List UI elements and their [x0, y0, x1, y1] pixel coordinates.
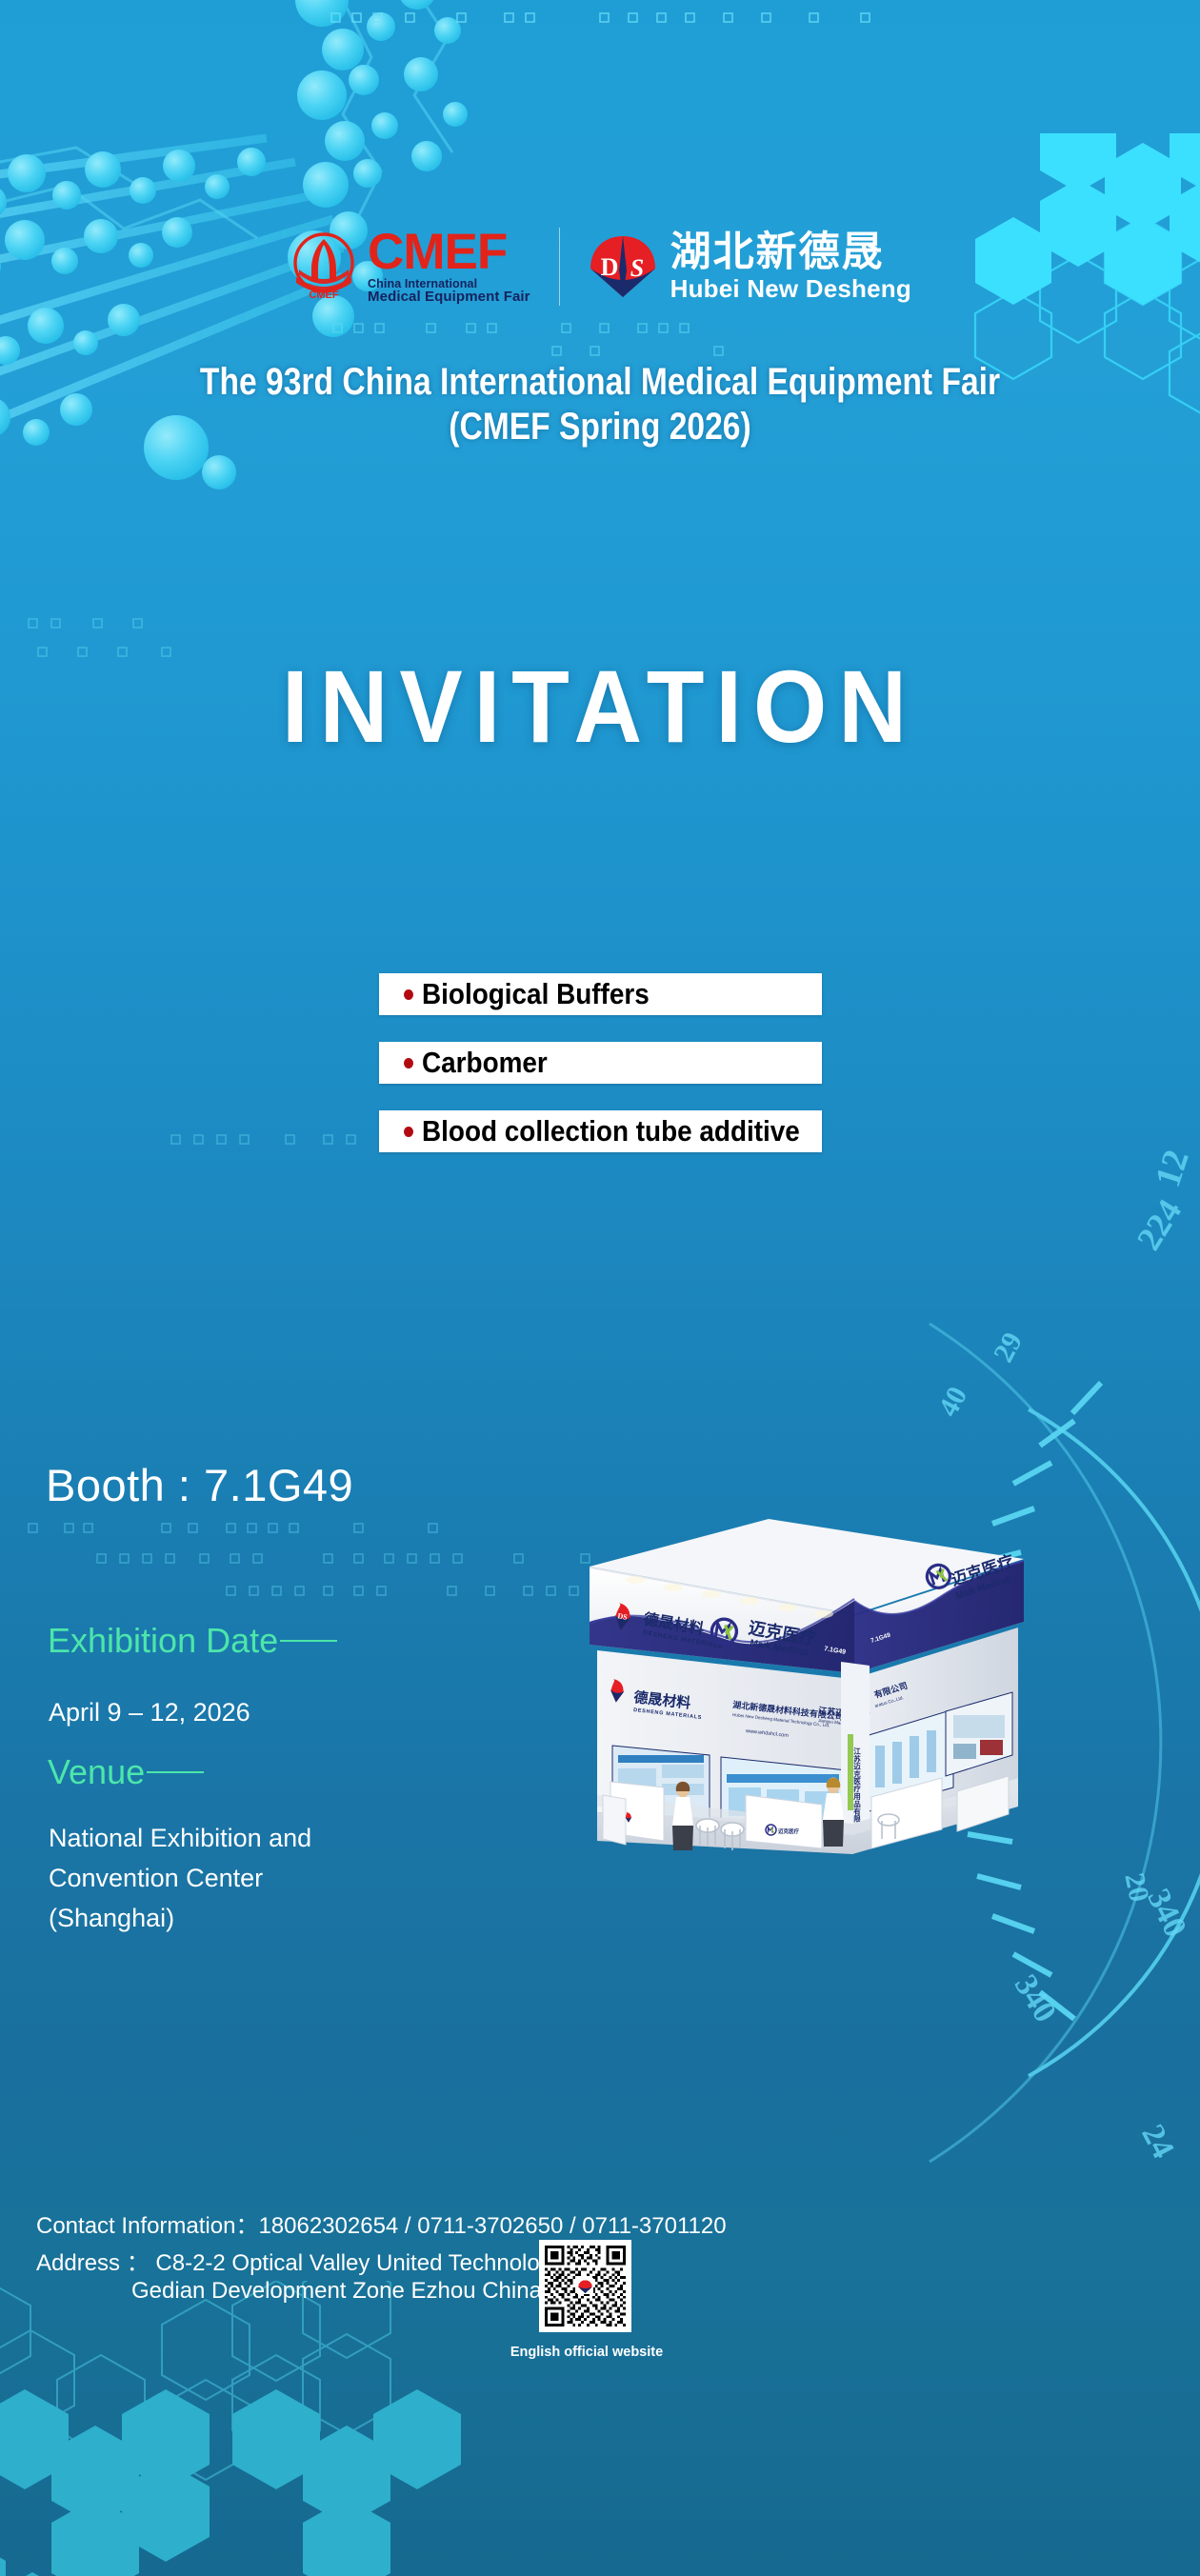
qr-caption: English official website — [506, 2345, 668, 2360]
fair-title-line2: (CMEF Spring 2026) — [96, 405, 1104, 449]
gauge-number: 29 — [988, 1328, 1030, 1368]
dot-grid-decoration — [19, 1514, 610, 1619]
heading-rule — [147, 1771, 204, 1773]
desheng-name-en: Hubei New Desheng — [670, 276, 911, 301]
cmef-torii-mark-icon: CMEF — [289, 231, 359, 302]
desheng-fan-ds-mark-icon: D S — [589, 232, 657, 301]
bullet-icon — [404, 1127, 413, 1137]
page-title: INVITATION — [48, 655, 1151, 758]
contact-phones: 18062302654 / 0711-3702650 / 0711-370112… — [258, 2213, 726, 2239]
exhibition-date-heading: Exhibition Date — [48, 1621, 337, 1661]
venue-heading-text: Venue — [48, 1752, 145, 1792]
gauge-number: 24 — [1133, 2119, 1181, 2165]
exhibition-date-heading-text: Exhibition Date — [48, 1621, 278, 1661]
svg-text:D: D — [600, 253, 618, 281]
dot-grid-decoration — [314, 0, 924, 57]
svg-text:迈克医疗: 迈克医疗 — [778, 1827, 800, 1835]
svg-text:CMEF: CMEF — [309, 290, 338, 301]
cmef-wordmark: CMEF China International Medical Equipme… — [368, 229, 530, 305]
bullet-icon — [404, 1058, 413, 1068]
header-logos: CMEF CMEF China International Medical Eq… — [0, 211, 1200, 321]
invitation-poster: 12 224 29 40 20 340 340 24 CMEF — [0, 0, 1200, 2576]
list-item[interactable]: Blood collection tube additive — [379, 1110, 822, 1152]
list-item[interactable]: Biological Buffers — [379, 973, 822, 1015]
address-line-2: Gedian Development Zone Ezhou China — [131, 2278, 542, 2305]
product-label: Blood collection tube additive — [422, 1114, 800, 1148]
desheng-name-cn: 湖北新德晟 — [670, 232, 911, 273]
gauge-number: 340 — [1007, 1968, 1063, 2028]
contact-label: Contact Information： — [36, 2213, 258, 2239]
gauge-number: 40 — [932, 1382, 974, 1422]
exhibition-date-value: April 9 – 12, 2026 — [49, 1698, 250, 1727]
venue-value: National Exhibition and Convention Cente… — [49, 1819, 363, 1939]
desheng-wordmark: 湖北新德晟 Hubei New Desheng — [670, 232, 911, 301]
hexagon-cluster-icon — [0, 2281, 495, 2576]
venue-heading: Venue — [48, 1752, 204, 1792]
address-line-1: Address ： C8-2-2 Optical Valley United T… — [36, 2244, 610, 2277]
svg-text:S: S — [630, 254, 643, 282]
product-label: Carbomer — [422, 1046, 548, 1080]
cmef-subtitle-line2: Medical Equipment Fair — [368, 290, 530, 304]
bullet-icon — [404, 989, 413, 1000]
fair-title-line1: The 93rd China International Medical Equ… — [96, 360, 1104, 405]
heading-rule — [280, 1640, 337, 1642]
contact-line: Contact Information：18062302654 / 0711-3… — [36, 2209, 727, 2244]
product-label: Biological Buffers — [422, 977, 650, 1011]
product-list: Biological Buffers Carbomer Blood collec… — [0, 973, 1200, 1179]
cmef-wordmark-text: CMEF — [368, 229, 530, 276]
qr-code-icon[interactable] — [539, 2240, 631, 2332]
gauge-number: 224 — [1129, 1192, 1190, 1257]
booth-render-image: DS 德晟材料 DESHENG MATERIALS 迈克医疗 Maik Medi… — [569, 1509, 1026, 1876]
fair-title: The 93rd China International Medical Equ… — [96, 360, 1104, 449]
booth-number: Booth : 7.1G49 — [46, 1459, 353, 1511]
address-label: Address ： — [36, 2250, 150, 2276]
desheng-logo: D S 湖北新德晟 Hubei New Desheng — [560, 232, 911, 301]
cmef-logo: CMEF CMEF China International Medical Eq… — [289, 229, 559, 305]
svg-text:DS: DS — [617, 1611, 629, 1622]
list-item[interactable]: Carbomer — [379, 1042, 822, 1084]
